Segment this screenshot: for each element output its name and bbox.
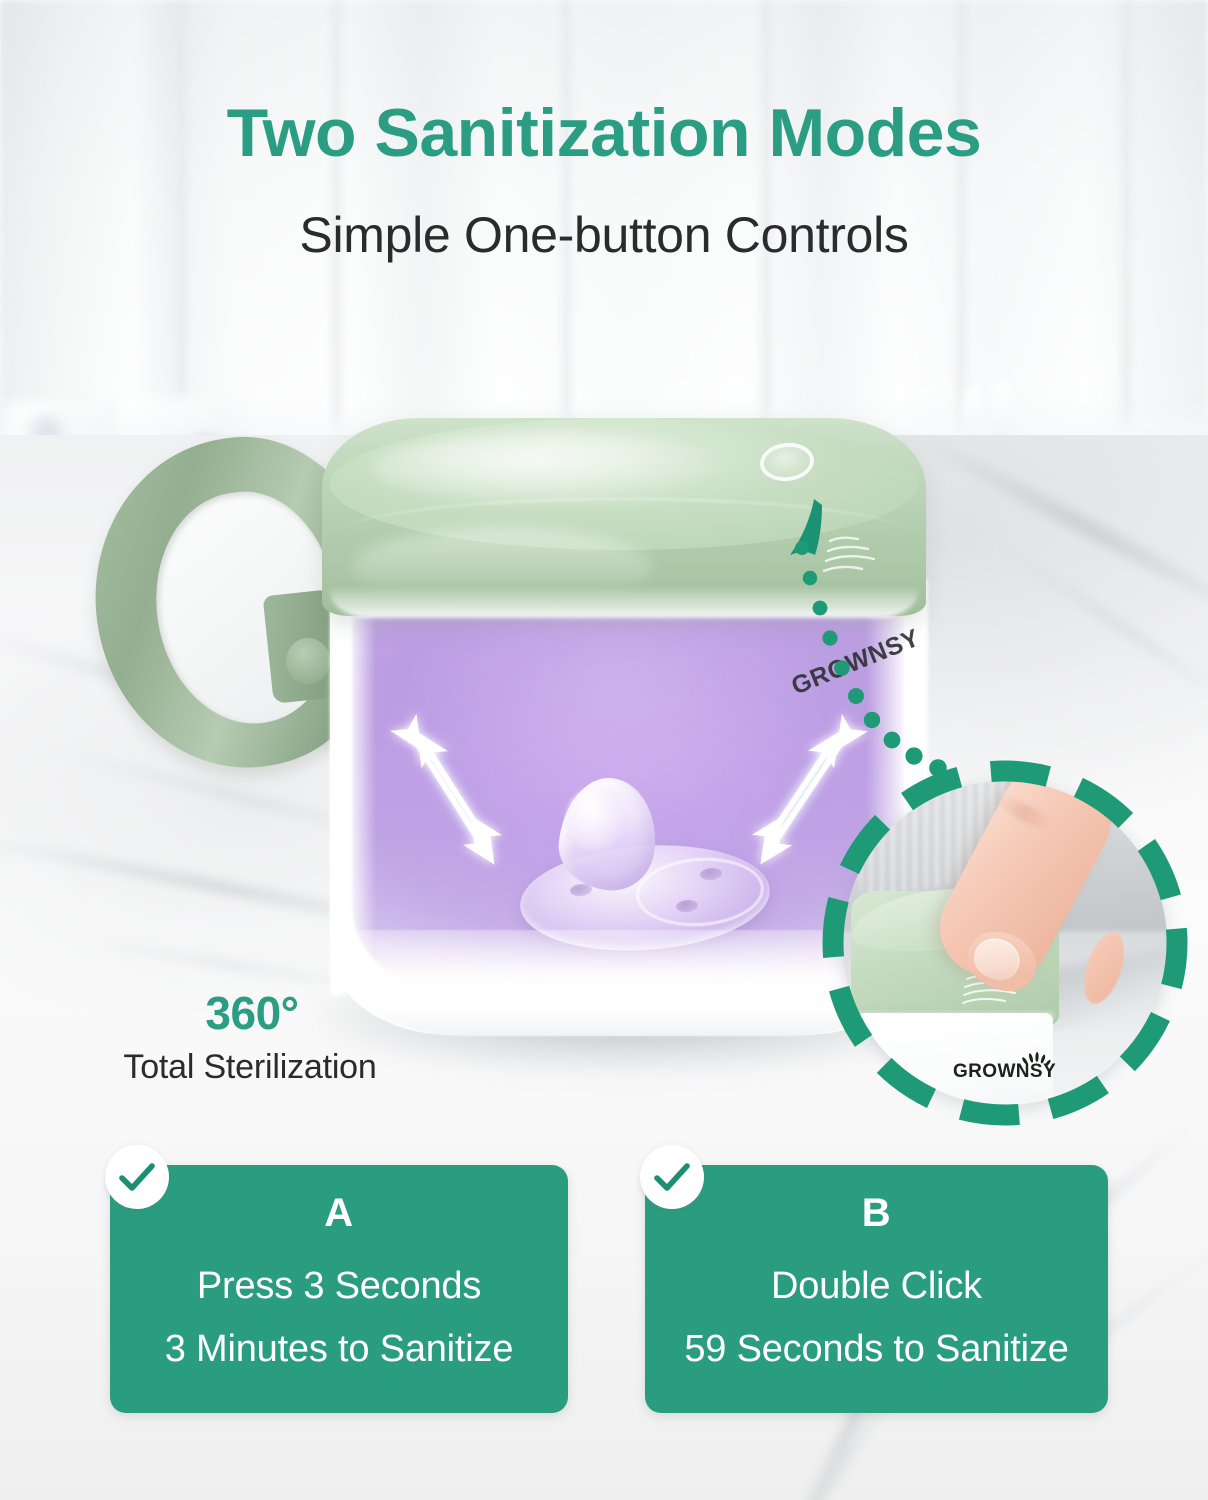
check-icon	[105, 1145, 169, 1209]
press-button-inset: GROWNSY	[822, 760, 1188, 1126]
inset-dashed-ring	[822, 760, 1188, 1126]
mode-card-a-letter: A	[110, 1191, 568, 1236]
mode-card-b[interactable]: B Double Click 59 Seconds to Sanitize	[645, 1165, 1108, 1413]
check-icon	[640, 1145, 704, 1209]
mode-card-a-line2: 3 Minutes to Sanitize	[110, 1328, 568, 1371]
uv-arrow	[412, 736, 485, 850]
lid-highlight	[372, 432, 732, 506]
check-badge-a	[105, 1145, 169, 1209]
mode-card-b-line2: 59 Seconds to Sanitize	[645, 1328, 1108, 1371]
sterilization-value: 360°	[96, 986, 408, 1040]
mode-card-b-line1: Double Click	[645, 1265, 1108, 1308]
mode-card-b-letter: B	[645, 1191, 1108, 1236]
uv-arrow	[426, 746, 480, 830]
sterilization-label: Total Sterilization	[60, 1048, 440, 1087]
mode-card-a[interactable]: A Press 3 Seconds 3 Minutes to Sanitize	[110, 1165, 568, 1413]
check-badge-b	[640, 1145, 704, 1209]
carry-strap-peg	[286, 638, 330, 684]
mode-card-a-line1: Press 3 Seconds	[110, 1265, 568, 1308]
